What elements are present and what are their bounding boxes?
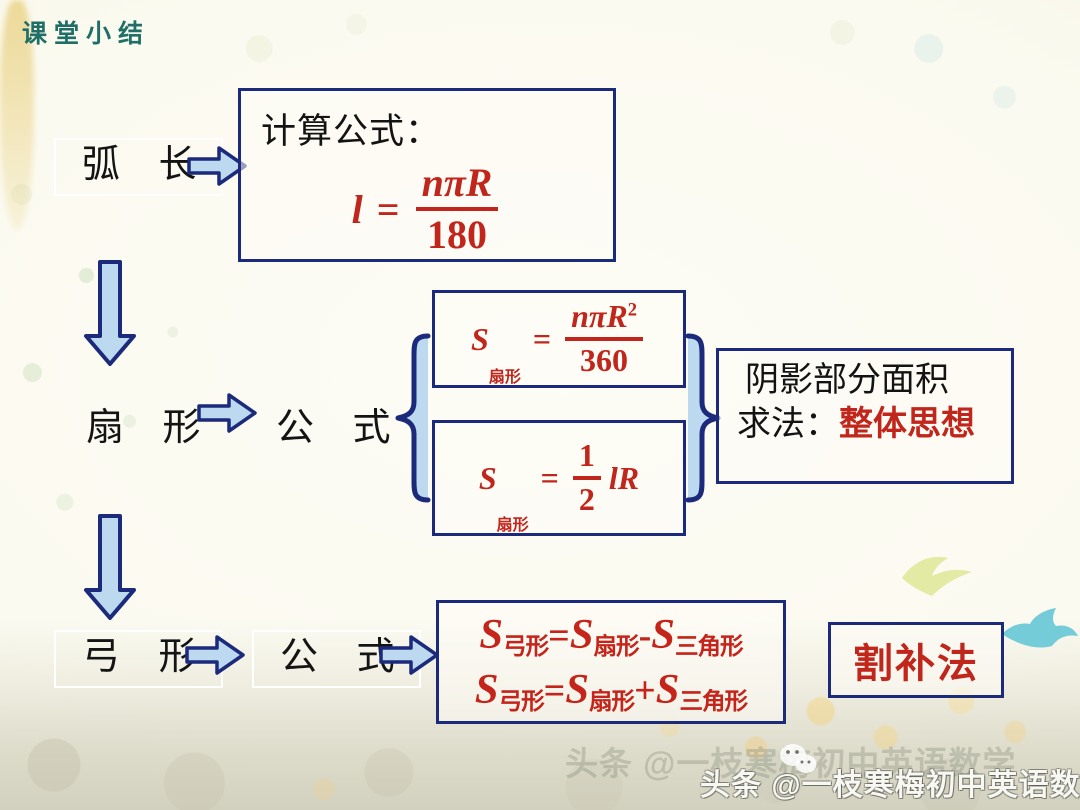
sector-a-subscript: 扇形 bbox=[489, 363, 521, 387]
sector-b-tail: lR bbox=[609, 460, 639, 497]
sector-b-numerator: 1 bbox=[573, 439, 601, 473]
down-arrow-icon-1 bbox=[82, 258, 138, 368]
sector-a-numerator: nπR bbox=[571, 298, 628, 334]
sector-formula-a: S 扇形 = nπR2 360 bbox=[435, 293, 683, 385]
seg1-term1-sub: 扇形 bbox=[594, 633, 639, 659]
right-arrow-icon-sector bbox=[196, 390, 258, 436]
sector-a-fraction: nπR2 360 bbox=[565, 300, 643, 377]
sector-b-lhs: S bbox=[479, 460, 497, 497]
seg2-term1: S bbox=[565, 666, 589, 713]
panel-segment-formulas: S弓形=S扇形-S三角形 S弓形=S扇形+S三角形 bbox=[436, 600, 786, 724]
shaded-area-note-accent: 整体思想 bbox=[839, 405, 975, 443]
seg2-lhs-sub: 弓形 bbox=[499, 688, 544, 714]
label-sector-formula-word: 公 式 bbox=[262, 396, 405, 451]
sector-formula-b: S 扇形 = 1 2 lR bbox=[435, 423, 683, 533]
seg2-term1-sub: 扇形 bbox=[589, 688, 634, 714]
watermark-main: 头条 @一枝寒梅初中英语数学 bbox=[700, 760, 1080, 804]
sector-a-numerator-wrap: nπR2 bbox=[565, 300, 643, 334]
method-box-label: 割补法 bbox=[853, 631, 979, 689]
bird-icon-yellow bbox=[898, 548, 976, 600]
arc-formula-denominator: 180 bbox=[421, 214, 493, 256]
segment-formula-line-2: S弓形=S扇形+S三角形 bbox=[475, 665, 747, 714]
label-sector: 扇 形 bbox=[72, 396, 215, 451]
seg1-lhs: S bbox=[479, 611, 503, 658]
panel-sector-formula-a: S 扇形 = nπR2 360 bbox=[432, 290, 686, 388]
arc-formula-numerator: nπR bbox=[416, 162, 499, 204]
sector-a-lhs: S bbox=[471, 321, 489, 358]
bird-icon-cyan bbox=[1000, 600, 1080, 656]
sector-b-subscript: 扇形 bbox=[497, 511, 529, 535]
right-arrow-icon-segment-2 bbox=[378, 632, 440, 678]
fraction-bar bbox=[565, 337, 643, 341]
sector-b-equals: = bbox=[541, 460, 559, 497]
arc-formula-equals: = bbox=[377, 186, 400, 233]
watermark-faint: 头条 @一枝寒梅初中英语数学 bbox=[565, 737, 1016, 785]
shaded-area-note-line1: 阴影部分面积 bbox=[745, 359, 1011, 403]
arc-formula: l = nπR 180 bbox=[241, 162, 613, 256]
sector-b-fraction: 1 2 bbox=[573, 439, 601, 516]
seg2-term2-sub: 三角形 bbox=[679, 688, 747, 714]
right-arrow-icon-segment bbox=[184, 632, 246, 678]
panel-shaded-area-note: 阴影部分面积 求法：整体思想 bbox=[716, 348, 1014, 484]
seg2-operator: + bbox=[634, 670, 656, 712]
sector-a-equals: = bbox=[533, 321, 551, 358]
seg1-term2-sub: 三角形 bbox=[675, 633, 743, 659]
seg1-term1: S bbox=[570, 611, 594, 658]
sector-a-denominator: 360 bbox=[574, 344, 634, 378]
panel-arc-formula: 计算公式： l = nπR 180 bbox=[238, 88, 616, 262]
shaded-area-note-line2: 求法：整体思想 bbox=[737, 403, 1011, 447]
seg2-equals: = bbox=[544, 670, 566, 712]
seg1-operator: - bbox=[639, 615, 652, 657]
seg1-term2: S bbox=[651, 611, 675, 658]
shaded-area-note-prefix: 求法： bbox=[737, 405, 839, 443]
seg1-lhs-sub: 弓形 bbox=[503, 633, 548, 659]
page-title: 课堂小结 bbox=[22, 14, 150, 50]
sector-b-denominator: 2 bbox=[573, 483, 601, 517]
panel-sector-formula-b: S 扇形 = 1 2 lR bbox=[432, 420, 686, 536]
seg2-lhs: S bbox=[475, 666, 499, 713]
panel-method-box: 割补法 bbox=[828, 622, 1004, 698]
slide-canvas: 课堂小结 弧 长 计算公式： l = nπR 180 扇 形 公 式 S bbox=[0, 0, 1080, 810]
arc-formula-heading: 计算公式： bbox=[261, 103, 613, 154]
arc-formula-lhs: l bbox=[352, 186, 363, 233]
left-curly-brace-icon bbox=[392, 330, 436, 506]
seg1-equals: = bbox=[548, 615, 570, 657]
wechat-logo-icon bbox=[778, 742, 818, 776]
sector-a-exponent: 2 bbox=[628, 300, 637, 321]
fraction-bar bbox=[416, 207, 499, 211]
down-arrow-icon-2 bbox=[82, 512, 138, 622]
seg2-term2: S bbox=[656, 666, 680, 713]
segment-formula-line-1: S弓形=S扇形-S三角形 bbox=[479, 610, 742, 659]
arc-formula-fraction: nπR 180 bbox=[416, 162, 499, 256]
fraction-bar bbox=[573, 476, 601, 480]
